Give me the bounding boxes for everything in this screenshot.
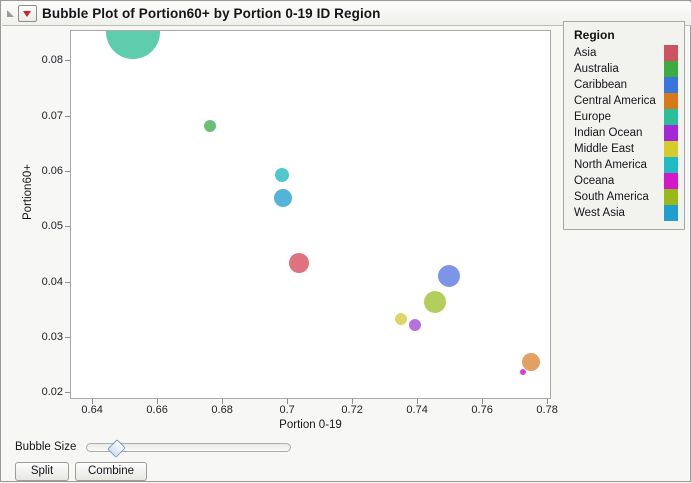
legend-item[interactable]: Caribbean bbox=[574, 77, 678, 93]
y-axis-tick-mark bbox=[65, 60, 70, 61]
legend-title: Region bbox=[574, 28, 678, 42]
legend-items: AsiaAustraliaCaribbeanCentral AmericaEur… bbox=[574, 45, 678, 221]
x-axis-tick-label: 0.66 bbox=[146, 404, 167, 416]
legend-color-swatch[interactable] bbox=[664, 93, 678, 109]
x-axis-tick-label: 0.74 bbox=[406, 404, 427, 416]
legend-item[interactable]: Europe bbox=[574, 109, 678, 125]
bubble-marker[interactable] bbox=[106, 30, 160, 59]
legend-color-swatch[interactable] bbox=[664, 173, 678, 189]
legend-color-swatch[interactable] bbox=[664, 125, 678, 141]
legend-item-label: Asia bbox=[574, 47, 596, 59]
y-axis-tick-label: 0.07 bbox=[3, 110, 63, 122]
x-axis-tick-label: 0.64 bbox=[81, 404, 102, 416]
disclosure-triangle-icon[interactable] bbox=[5, 3, 18, 25]
legend-color-swatch[interactable] bbox=[664, 141, 678, 157]
x-axis-tick-mark bbox=[482, 399, 483, 404]
legend-item-label: Oceana bbox=[574, 175, 614, 187]
x-axis-tick-label: 0.72 bbox=[341, 404, 362, 416]
legend-color-swatch[interactable] bbox=[664, 109, 678, 125]
legend-item-label: Indian Ocean bbox=[574, 127, 642, 139]
legend-item-label: Caribbean bbox=[574, 79, 627, 91]
bottom-controls: Bubble Size Split Combine bbox=[1, 436, 561, 483]
legend-item-label: North America bbox=[574, 159, 647, 171]
legend-color-swatch[interactable] bbox=[664, 189, 678, 205]
bubble-marker[interactable] bbox=[520, 369, 526, 375]
y-axis-tick-mark bbox=[65, 171, 70, 172]
y-axis-tick-mark bbox=[65, 337, 70, 338]
red-triangle-menu-icon[interactable] bbox=[18, 5, 37, 22]
x-axis-tick-mark bbox=[157, 399, 158, 404]
legend-item[interactable]: North America bbox=[574, 157, 678, 173]
legend-item-label: West Asia bbox=[574, 207, 625, 219]
legend-item[interactable]: Middle East bbox=[574, 141, 678, 157]
bubble-marker[interactable] bbox=[522, 353, 540, 371]
legend-color-swatch[interactable] bbox=[664, 61, 678, 77]
y-axis-tick-mark bbox=[65, 282, 70, 283]
y-axis-tick-label: 0.04 bbox=[3, 276, 63, 288]
legend-color-swatch[interactable] bbox=[664, 157, 678, 173]
x-axis-tick-label: 0.76 bbox=[471, 404, 492, 416]
legend-item-label: Europe bbox=[574, 111, 611, 123]
legend-item-label: Central America bbox=[574, 95, 656, 107]
y-axis-title: Portion60+ bbox=[22, 137, 34, 247]
x-axis-tick-label: 0.68 bbox=[211, 404, 232, 416]
plot-canvas[interactable] bbox=[70, 30, 551, 399]
bubble-marker[interactable] bbox=[395, 313, 407, 325]
x-axis-tick-label: 0.78 bbox=[536, 404, 557, 416]
y-axis-tick-label: 0.02 bbox=[3, 386, 63, 398]
page-title: Bubble Plot of Portion60+ by Portion 0-1… bbox=[42, 6, 381, 21]
y-axis-tick-mark bbox=[65, 116, 70, 117]
bubble-marker[interactable] bbox=[274, 189, 292, 207]
x-axis-tick-mark bbox=[547, 399, 548, 404]
y-axis-tick-mark bbox=[65, 392, 70, 393]
button-row: Split Combine bbox=[15, 462, 147, 481]
bubble-marker[interactable] bbox=[204, 120, 216, 132]
x-axis-title: Portion 0-19 bbox=[70, 419, 551, 431]
legend-color-swatch[interactable] bbox=[664, 205, 678, 221]
plot-area: 0.020.030.040.050.060.070.08 Portion60+ … bbox=[1, 26, 561, 436]
bubble-size-slider[interactable] bbox=[86, 443, 291, 452]
y-axis-tick-mark bbox=[65, 226, 70, 227]
y-axis-tick-label: 0.08 bbox=[3, 54, 63, 66]
x-axis-tick-mark bbox=[352, 399, 353, 404]
legend-item-label: Middle East bbox=[574, 143, 634, 155]
legend-item[interactable]: Oceana bbox=[574, 173, 678, 189]
bubble-size-label: Bubble Size bbox=[15, 441, 76, 453]
legend-color-swatch[interactable] bbox=[664, 45, 678, 61]
x-axis-tick-mark bbox=[222, 399, 223, 404]
bubble-plot-window: Bubble Plot of Portion60+ by Portion 0-1… bbox=[0, 0, 691, 482]
bubble-marker[interactable] bbox=[438, 265, 460, 287]
legend-item[interactable]: Indian Ocean bbox=[574, 125, 678, 141]
x-axis-tick-mark bbox=[92, 399, 93, 404]
split-button[interactable]: Split bbox=[15, 462, 69, 481]
x-axis-tick-label: 0.7 bbox=[279, 404, 294, 416]
legend-item[interactable]: Australia bbox=[574, 61, 678, 77]
legend-item[interactable]: South America bbox=[574, 189, 678, 205]
legend-item[interactable]: Asia bbox=[574, 45, 678, 61]
x-axis-tick-mark bbox=[417, 399, 418, 404]
legend-item-label: South America bbox=[574, 191, 649, 203]
legend-panel: Region AsiaAustraliaCaribbeanCentral Ame… bbox=[563, 21, 685, 230]
bubble-marker[interactable] bbox=[289, 253, 309, 273]
legend-color-swatch[interactable] bbox=[664, 77, 678, 93]
legend-item[interactable]: West Asia bbox=[574, 205, 678, 221]
bubble-marker[interactable] bbox=[409, 319, 421, 331]
y-axis-tick-label: 0.03 bbox=[3, 331, 63, 343]
bubble-marker[interactable] bbox=[424, 291, 446, 313]
bubble-marker[interactable] bbox=[275, 168, 289, 182]
combine-button[interactable]: Combine bbox=[75, 462, 147, 481]
x-axis-tick-mark bbox=[287, 399, 288, 404]
bubble-size-slider-thumb[interactable] bbox=[108, 439, 127, 458]
legend-item-label: Australia bbox=[574, 63, 619, 75]
legend-item[interactable]: Central America bbox=[574, 93, 678, 109]
bubble-size-control: Bubble Size bbox=[15, 441, 291, 453]
